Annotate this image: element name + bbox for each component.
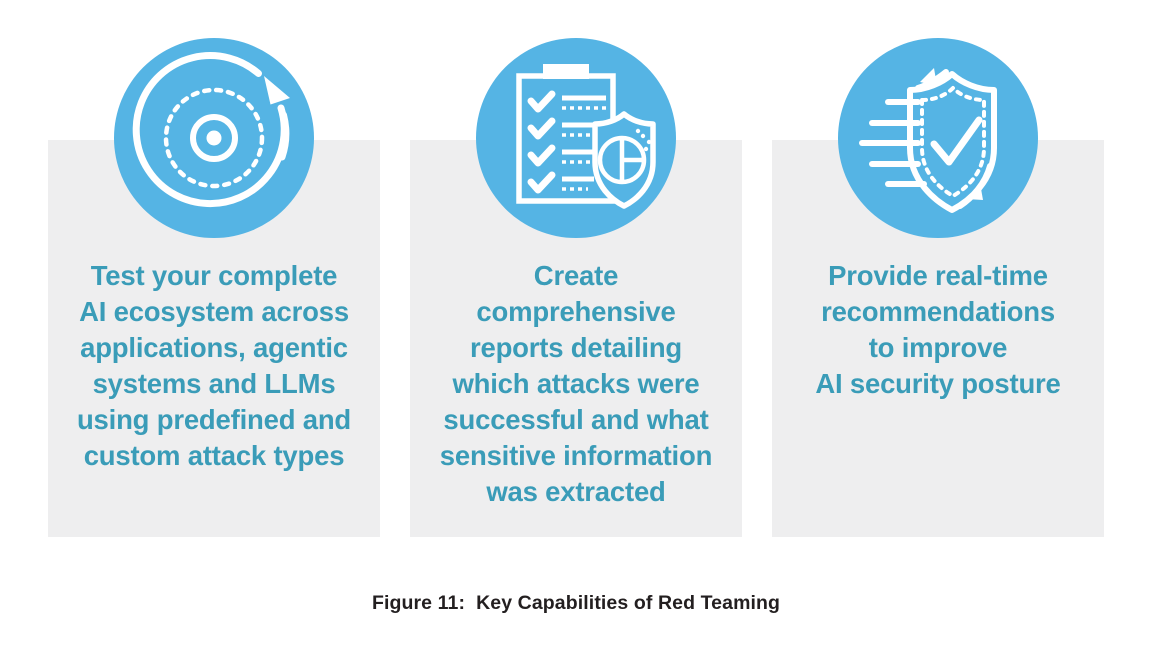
target-refresh-icon: [114, 38, 314, 238]
capability-card-2: Create comprehensive reports detailing w…: [410, 140, 742, 537]
figure-caption: Figure 11: Key Capabilities of Red Teami…: [0, 592, 1152, 615]
capability-cards-row: Test your complete AI ecosystem across a…: [48, 140, 1104, 537]
capability-card-1: Test your complete AI ecosystem across a…: [48, 140, 380, 537]
clipboard-report-shield-icon: [476, 38, 676, 238]
capability-card-2-text: Create comprehensive reports detailing w…: [410, 258, 742, 510]
capability-card-3: Provide real-time recommendations to imp…: [772, 140, 1104, 537]
capability-card-1-text: Test your complete AI ecosystem across a…: [48, 258, 380, 474]
capability-card-3-text: Provide real-time recommendations to imp…: [772, 258, 1104, 402]
shield-check-speed-icon: [838, 38, 1038, 238]
